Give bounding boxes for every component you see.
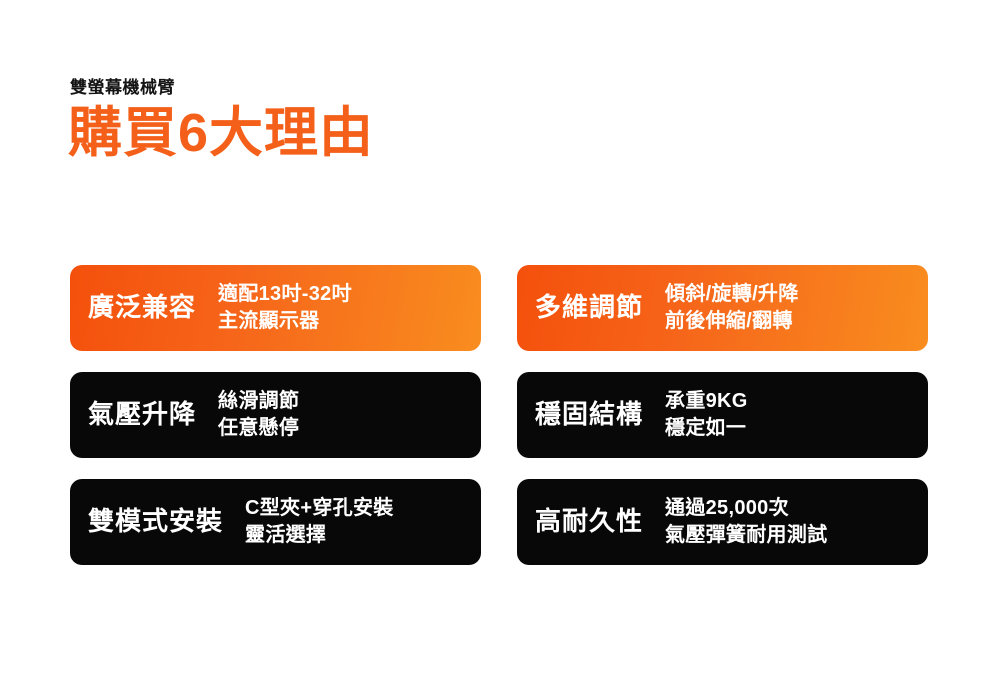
feature-card-description: C型夾+穿孔安裝靈活選擇 [245,495,467,549]
feature-card-title: 高耐久性 [535,507,643,537]
feature-card-description: 絲滑調節任意懸停 [218,388,467,442]
feature-card-description: 傾斜/旋轉/升降前後伸縮/翻轉 [665,281,914,335]
feature-card-title: 雙模式安裝 [88,507,223,537]
feature-card: 穩固結構承重9KG穩定如一 [517,372,928,458]
feature-card-description: 通過25,000次氣壓彈簧耐用測試 [665,495,914,549]
feature-card: 高耐久性通過25,000次氣壓彈簧耐用測試 [517,479,928,565]
feature-card-description: 適配13吋-32吋主流顯示器 [218,281,467,335]
feature-card-title: 多維調節 [535,293,643,323]
promo-page: 雙螢幕機械臂 購買6大理由 廣泛兼容適配13吋-32吋主流顯示器多維調節傾斜/旋… [0,0,1000,691]
feature-card-description-line: 主流顯示器 [218,308,467,335]
feature-card: 氣壓升降絲滑調節任意懸停 [70,372,481,458]
feature-card-description-line: 絲滑調節 [218,388,467,415]
feature-card: 廣泛兼容適配13吋-32吋主流顯示器 [70,265,481,351]
feature-card-title: 穩固結構 [535,400,643,430]
feature-card-description-line: 通過25,000次 [665,495,914,522]
feature-card-description-line: 任意懸停 [218,415,467,442]
header-kicker: 雙螢幕機械臂 [70,78,374,98]
feature-card-description-line: 適配13吋-32吋 [218,281,467,308]
feature-card-description-line: 傾斜/旋轉/升降 [665,281,914,308]
feature-card-description-line: 靈活選擇 [245,522,467,549]
feature-card: 多維調節傾斜/旋轉/升降前後伸縮/翻轉 [517,265,928,351]
feature-card-description-line: 氣壓彈簧耐用測試 [665,522,914,549]
feature-card-description: 承重9KG穩定如一 [665,388,914,442]
feature-card-title: 氣壓升降 [88,400,196,430]
feature-card-description-line: 前後伸縮/翻轉 [665,308,914,335]
feature-card-grid: 廣泛兼容適配13吋-32吋主流顯示器多維調節傾斜/旋轉/升降前後伸縮/翻轉氣壓升… [70,265,928,565]
page-title: 購買6大理由 [68,104,374,162]
feature-card-description-line: 承重9KG [665,388,914,415]
feature-card-description-line: 穩定如一 [665,415,914,442]
feature-card: 雙模式安裝C型夾+穿孔安裝靈活選擇 [70,479,481,565]
page-header: 雙螢幕機械臂 購買6大理由 [68,78,374,163]
feature-card-title: 廣泛兼容 [88,293,196,323]
feature-card-description-line: C型夾+穿孔安裝 [245,495,467,522]
